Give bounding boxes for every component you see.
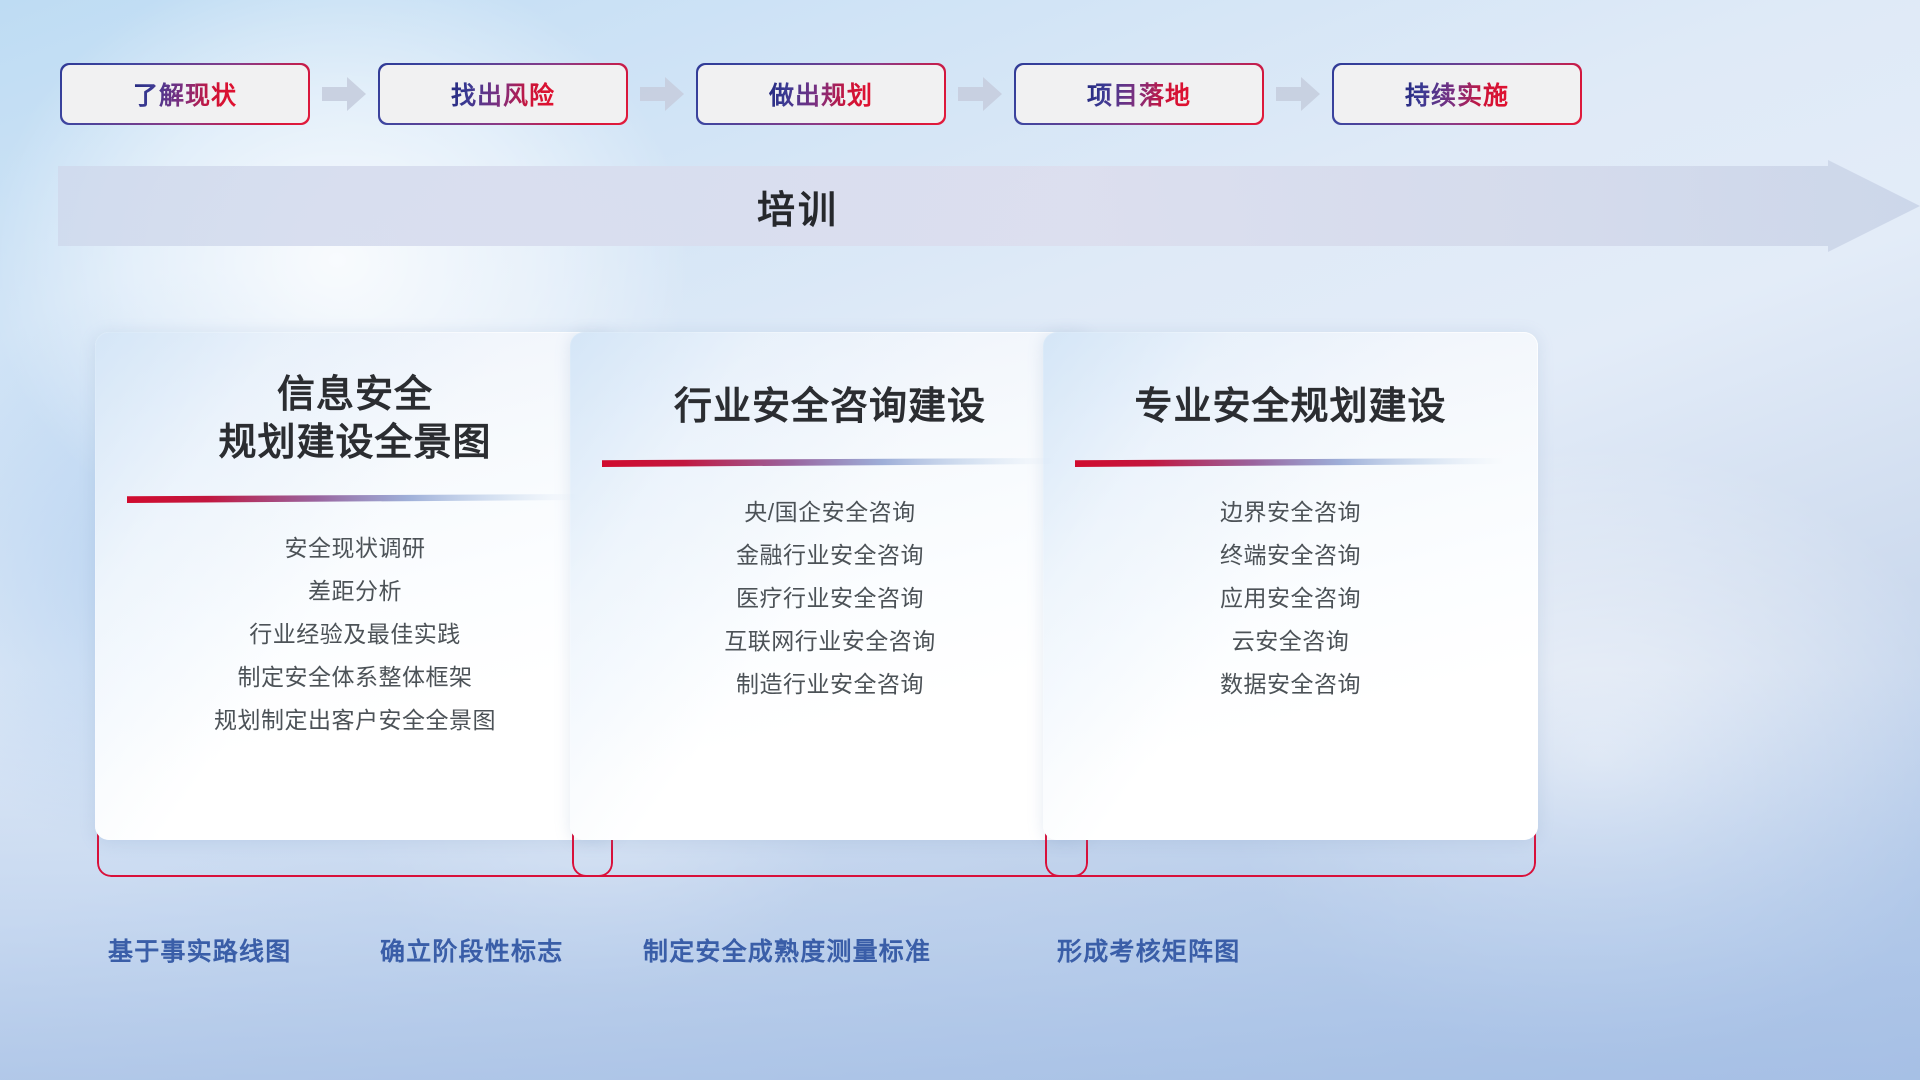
card-1-title: 信息安全 规划建设全景图 — [95, 332, 615, 468]
card-1-item-list: 安全现状调研 差距分析 行业经验及最佳实践 制定安全体系整体框架 规划制定出客户… — [95, 527, 615, 742]
card-1-item-4: 制定安全体系整体框架 — [95, 656, 615, 699]
card-2-item-2: 金融行业安全咨询 — [570, 534, 1090, 577]
process-step-3[interactable]: 做出规划 — [696, 63, 946, 125]
card-3-item-1: 边界安全咨询 — [1043, 491, 1538, 534]
card-1-surface: 信息安全 规划建设全景图 — [95, 332, 615, 840]
process-step-2-label: 找出风险 — [451, 76, 555, 112]
card-3-item-4: 云安全咨询 — [1043, 620, 1538, 663]
caption-1: 基于事实路线图 — [108, 928, 291, 972]
training-banner-label: 培训 — [58, 160, 1538, 252]
card-2-item-1: 央/国企安全咨询 — [570, 491, 1090, 534]
caption-3: 制定安全成熟度测量标准 — [643, 928, 931, 972]
card-2-title: 行业安全咨询建设 — [570, 332, 1090, 432]
process-arrow-3-icon — [946, 63, 1014, 125]
card-2-item-3: 医疗行业安全咨询 — [570, 577, 1090, 620]
card-2-item-4: 互联网行业安全咨询 — [570, 620, 1090, 663]
card-1-item-5: 规划制定出客户安全全景图 — [95, 699, 615, 742]
card-3-item-5: 数据安全咨询 — [1043, 663, 1538, 706]
card-3-divider — [1075, 458, 1503, 467]
process-arrow-1-icon — [310, 63, 378, 125]
process-step-2[interactable]: 找出风险 — [378, 63, 628, 125]
card-1-item-2: 差距分析 — [95, 570, 615, 613]
process-step-row: 了解现状 找出风险 做出规划 项目落地 持续实施 — [60, 63, 1860, 125]
process-arrow-2-icon — [628, 63, 696, 125]
card-1-item-3: 行业经验及最佳实践 — [95, 613, 615, 656]
card-3-item-list: 边界安全咨询 终端安全咨询 应用安全咨询 云安全咨询 数据安全咨询 — [1043, 491, 1538, 706]
card-2-divider — [602, 458, 1055, 467]
training-banner: 培训 — [58, 160, 1920, 252]
caption-4: 形成考核矩阵图 — [1057, 928, 1240, 972]
process-step-5-label: 持续实施 — [1405, 76, 1509, 112]
card-3-surface: 专业安全规划建设 — [1043, 332, 1538, 840]
process-arrow-4-icon — [1264, 63, 1332, 125]
process-step-1[interactable]: 了解现状 — [60, 63, 310, 125]
process-step-1-label: 了解现状 — [133, 76, 237, 112]
card-1[interactable]: 信息安全 规划建设全景图 — [95, 332, 615, 877]
card-2-item-5: 制造行业安全咨询 — [570, 663, 1090, 706]
process-step-3-label: 做出规划 — [769, 76, 873, 112]
card-2-item-list: 央/国企安全咨询 金融行业安全咨询 医疗行业安全咨询 互联网行业安全咨询 制造行… — [570, 491, 1090, 706]
card-2-surface: 行业安全咨询建设 — [570, 332, 1090, 840]
card-3-item-3: 应用安全咨询 — [1043, 577, 1538, 620]
card-2[interactable]: 行业安全咨询建设 — [570, 332, 1090, 877]
card-1-item-1: 安全现状调研 — [95, 527, 615, 570]
process-step-4-label: 项目落地 — [1087, 76, 1191, 112]
caption-row: 基于事实路线图 确立阶段性标志 制定安全成熟度测量标准 形成考核矩阵图 — [0, 928, 1920, 972]
card-3[interactable]: 专业安全规划建设 — [1043, 332, 1538, 877]
process-step-5[interactable]: 持续实施 — [1332, 63, 1582, 125]
card-row: 信息安全 规划建设全景图 — [0, 332, 1920, 872]
card-3-title: 专业安全规划建设 — [1043, 332, 1538, 432]
card-3-item-2: 终端安全咨询 — [1043, 534, 1538, 577]
caption-2: 确立阶段性标志 — [380, 928, 563, 972]
card-1-divider — [127, 494, 580, 503]
process-step-4[interactable]: 项目落地 — [1014, 63, 1264, 125]
